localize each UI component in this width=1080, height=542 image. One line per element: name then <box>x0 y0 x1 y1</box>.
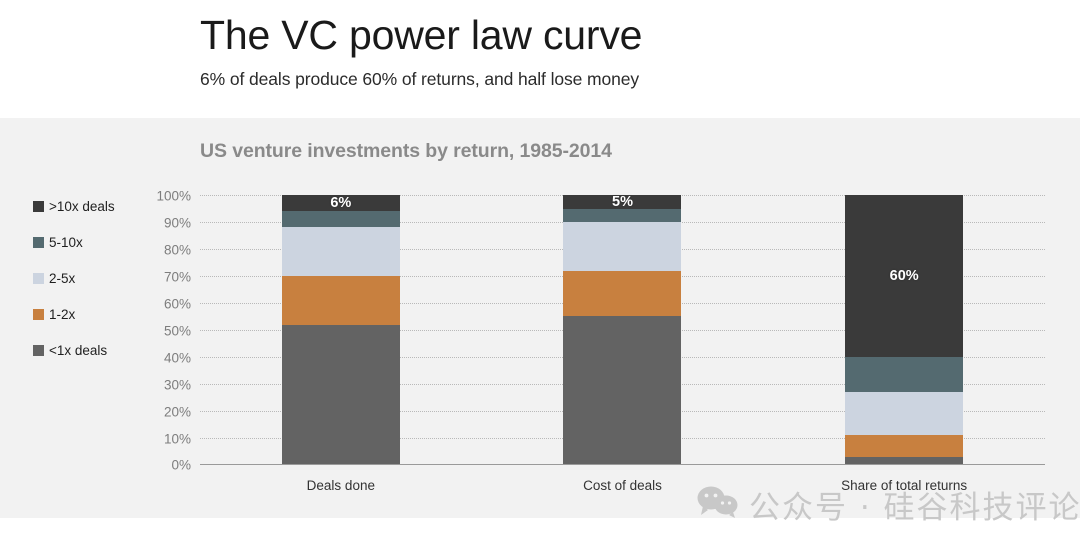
stacked-bar[interactable]: 60%Share of total returns <box>845 195 963 465</box>
legend-swatch-icon <box>33 201 44 212</box>
legend-item[interactable]: >10x deals <box>33 188 173 224</box>
bar-segment[interactable] <box>845 357 963 392</box>
bar-segment[interactable]: 60% <box>845 195 963 357</box>
bar-segment[interactable] <box>282 211 400 227</box>
bar-segment[interactable] <box>563 271 681 317</box>
x-axis-tick-label: Deals done <box>307 478 375 493</box>
bar-segment-label: 5% <box>612 195 633 210</box>
legend-swatch-icon <box>33 273 44 284</box>
legend-item-label: <1x deals <box>49 343 107 358</box>
bar-slot: 5%Cost of deals <box>482 195 764 465</box>
bar-slot: 6%Deals done <box>200 195 482 465</box>
y-axis-tick-label: 0% <box>171 458 191 473</box>
legend-item[interactable]: <1x deals <box>33 332 173 368</box>
bar-segment[interactable] <box>563 209 681 223</box>
y-axis-tick-label: 30% <box>164 378 191 393</box>
x-axis-tick-label: Share of total returns <box>841 478 967 493</box>
bar-segment[interactable] <box>845 435 963 457</box>
legend-swatch-icon <box>33 237 44 248</box>
plot-area: 0%10%20%30%40%50%60%70%80%90%100% 6%Deal… <box>200 195 1045 465</box>
legend-swatch-icon <box>33 309 44 320</box>
chart-legend: >10x deals5-10x2-5x1-2x<1x deals <box>33 188 173 368</box>
bar-segment[interactable] <box>282 227 400 276</box>
y-axis-tick-label: 20% <box>164 405 191 420</box>
legend-item-label: 1-2x <box>49 307 75 322</box>
bar-segment[interactable] <box>563 316 681 465</box>
bar-segment-label: 6% <box>330 196 351 211</box>
bar-segment[interactable]: 6% <box>282 195 400 211</box>
bar-segment-label: 60% <box>890 269 919 284</box>
bar-slot: 60%Share of total returns <box>763 195 1045 465</box>
stacked-bar[interactable]: 6%Deals done <box>282 195 400 465</box>
page-title: The VC power law curve <box>200 0 1080 61</box>
x-axis-tick-label: Cost of deals <box>583 478 662 493</box>
legend-item[interactable]: 5-10x <box>33 224 173 260</box>
bar-segment[interactable] <box>282 276 400 325</box>
legend-swatch-icon <box>33 345 44 356</box>
bar-segment[interactable] <box>563 222 681 271</box>
legend-item-label: >10x deals <box>49 199 115 214</box>
bar-segment[interactable] <box>282 325 400 465</box>
footer-white-band <box>0 518 1080 542</box>
bar-group: 6%Deals done5%Cost of deals60%Share of t… <box>200 195 1045 465</box>
bar-segment[interactable] <box>845 392 963 435</box>
page-subtitle: 6% of deals produce 60% of returns, and … <box>200 61 1080 90</box>
legend-item-label: 2-5x <box>49 271 75 286</box>
legend-item[interactable]: 1-2x <box>33 296 173 332</box>
y-axis-tick-label: 10% <box>164 432 191 447</box>
legend-item[interactable]: 2-5x <box>33 260 173 296</box>
slide-header: The VC power law curve 6% of deals produ… <box>0 0 1080 118</box>
bar-segment[interactable]: 5% <box>563 195 681 209</box>
stacked-bar[interactable]: 5%Cost of deals <box>563 195 681 465</box>
chart-heading: US venture investments by return, 1985-2… <box>200 140 612 163</box>
chart-panel: US venture investments by return, 1985-2… <box>0 118 1080 518</box>
x-axis-line <box>200 464 1045 465</box>
legend-item-label: 5-10x <box>49 235 83 250</box>
